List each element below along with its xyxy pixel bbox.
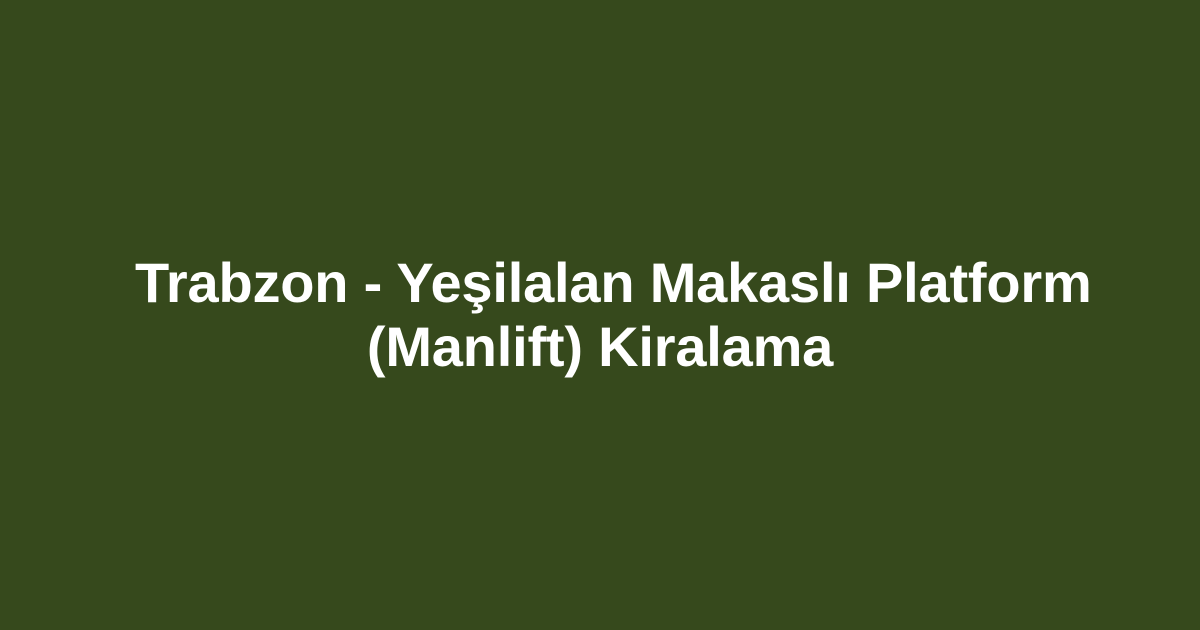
page-title-line-2: (Manlift) Kiralama (135, 315, 1065, 379)
title-block: Trabzon - Yeşilalan Makaslı Platform (Ma… (100, 251, 1100, 379)
page-title-line-1: Trabzon - Yeşilalan Makaslı Platform (135, 251, 1065, 315)
social-share-card: Trabzon - Yeşilalan Makaslı Platform (Ma… (0, 0, 1200, 630)
page-title: Trabzon - Yeşilalan Makaslı Platform (Ma… (135, 251, 1065, 379)
